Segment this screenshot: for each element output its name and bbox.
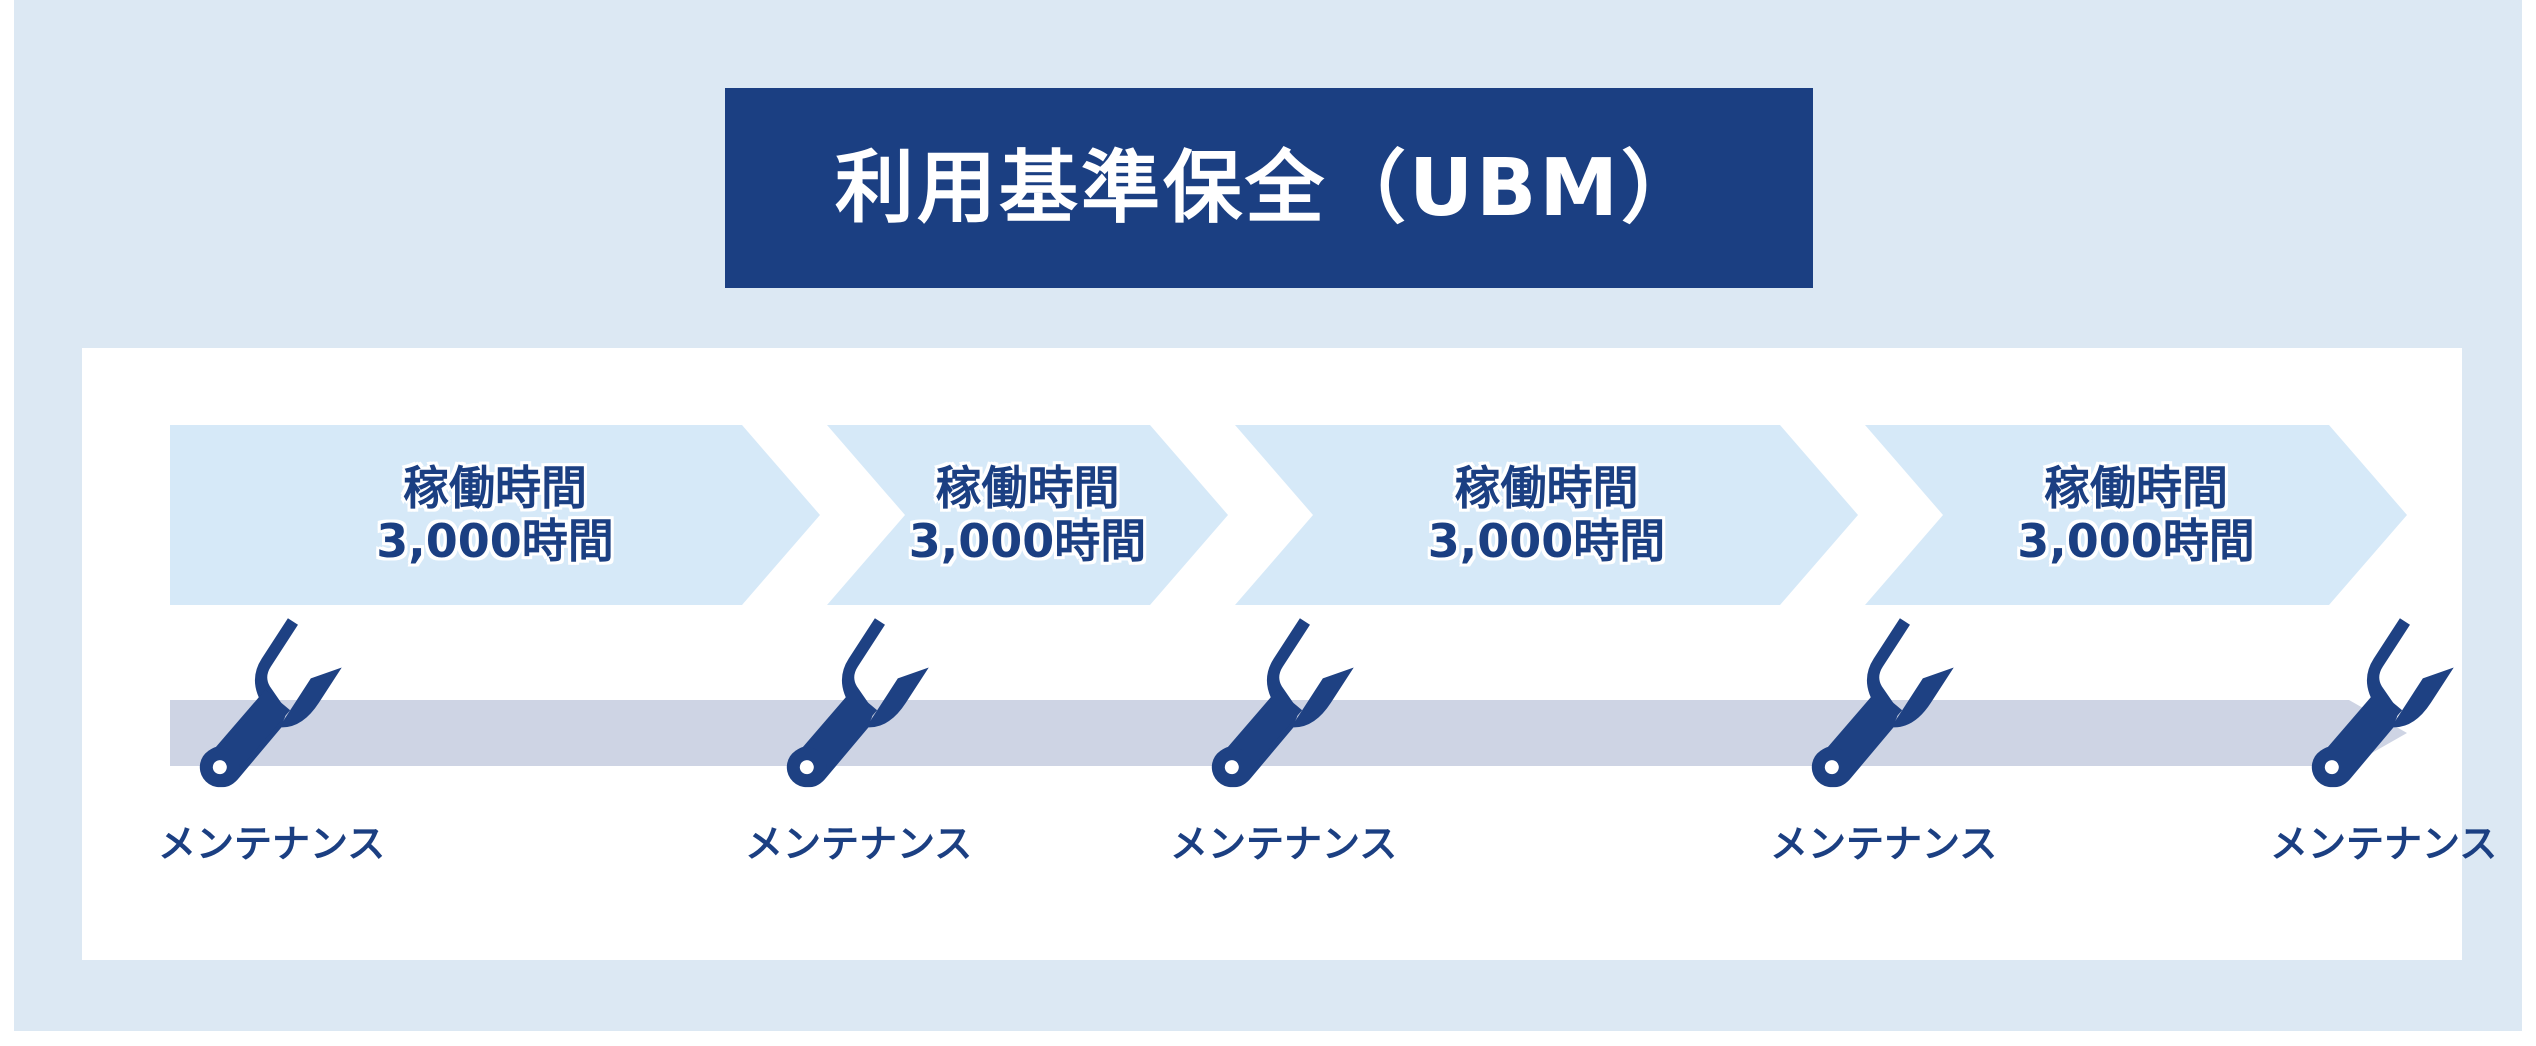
interval-value-2: 3,000時間 — [909, 515, 1147, 568]
maintenance-label-3: メンテナンス — [1170, 825, 1390, 863]
wrench-icon — [1804, 615, 1956, 815]
maintenance-marker-2: メンテナンス — [745, 615, 965, 863]
maintenance-label-4: メンテナンス — [1770, 825, 1990, 863]
diagram-canvas: 利用基準保全（UBM） 稼働時間 3,000時間 稼働時間 3,000時間 稼働… — [0, 0, 2536, 1046]
interval-label-4: 稼働時間 — [2044, 462, 2228, 515]
interval-chevron-2: 稼働時間 3,000時間 — [827, 425, 1228, 605]
interval-value-1: 3,000時間 — [376, 515, 614, 568]
wrench-icon — [192, 615, 344, 815]
wrench-icon — [2304, 615, 2456, 815]
interval-label-1: 稼働時間 — [403, 462, 587, 515]
maintenance-marker-4: メンテナンス — [1770, 615, 1990, 863]
interval-chevron-3: 稼働時間 3,000時間 — [1235, 425, 1858, 605]
maintenance-marker-1: メンテナンス — [158, 615, 378, 863]
maintenance-label-5: メンテナンス — [2270, 825, 2490, 863]
maintenance-label-2: メンテナンス — [745, 825, 965, 863]
interval-value-4: 3,000時間 — [2017, 515, 2255, 568]
wrench-icon — [1204, 615, 1356, 815]
interval-label-3: 稼働時間 — [1455, 462, 1639, 515]
interval-value-3: 3,000時間 — [1428, 515, 1666, 568]
interval-chevron-group: 稼働時間 3,000時間 稼働時間 3,000時間 稼働時間 3,000時間 稼… — [0, 0, 2536, 1046]
maintenance-marker-5: メンテナンス — [2270, 615, 2490, 863]
maintenance-marker-3: メンテナンス — [1170, 615, 1390, 863]
wrench-icon — [779, 615, 931, 815]
maintenance-label-1: メンテナンス — [158, 825, 378, 863]
interval-label-2: 稼働時間 — [936, 462, 1120, 515]
interval-chevron-4: 稼働時間 3,000時間 — [1865, 425, 2407, 605]
interval-chevron-1: 稼働時間 3,000時間 — [170, 425, 820, 605]
